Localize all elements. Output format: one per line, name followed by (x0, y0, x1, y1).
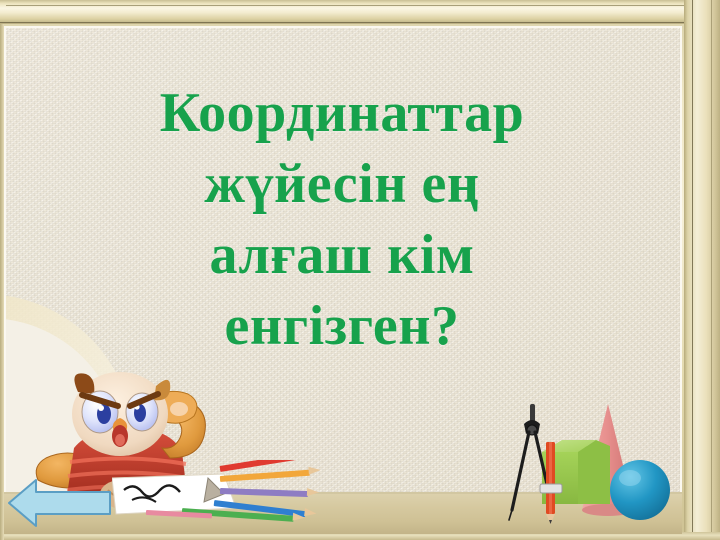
back-arrow-icon[interactable] (6, 476, 114, 528)
owl-finger-highlight (170, 402, 188, 416)
sphere-highlight (619, 470, 641, 486)
pencils-svg (112, 460, 332, 530)
pencil-red (220, 460, 317, 472)
frame-right-band (684, 0, 720, 540)
frame-top-band (0, 0, 720, 24)
question-title: Координаттар жүйесін ең алғаш кім енгізг… (42, 78, 642, 362)
presentation-slide: Координаттар жүйесін ең алғаш кім енгізг… (0, 0, 720, 540)
frame-right-hairline-inner (692, 0, 693, 540)
frame-top-hairline-upper (6, 5, 714, 6)
pencils-illustration (112, 460, 332, 530)
geometry-illustration (504, 398, 682, 528)
back-arrow-shape[interactable] (9, 480, 110, 526)
frame-top-hairline-lower (0, 22, 720, 23)
back-navigation-arrow[interactable] (6, 476, 114, 528)
owl-ear-tuft-left (74, 373, 94, 394)
frame-right-hairline-outer (711, 0, 712, 540)
owl-eye-glint-left (98, 405, 104, 411)
geometry-svg (504, 398, 682, 528)
sphere-shape (610, 460, 670, 520)
slide-canvas: Координаттар жүйесін ең алғаш кім енгізг… (4, 26, 682, 534)
pencil-purple (220, 488, 319, 497)
owl-tongue (115, 434, 125, 446)
cube-side-face (578, 440, 610, 504)
